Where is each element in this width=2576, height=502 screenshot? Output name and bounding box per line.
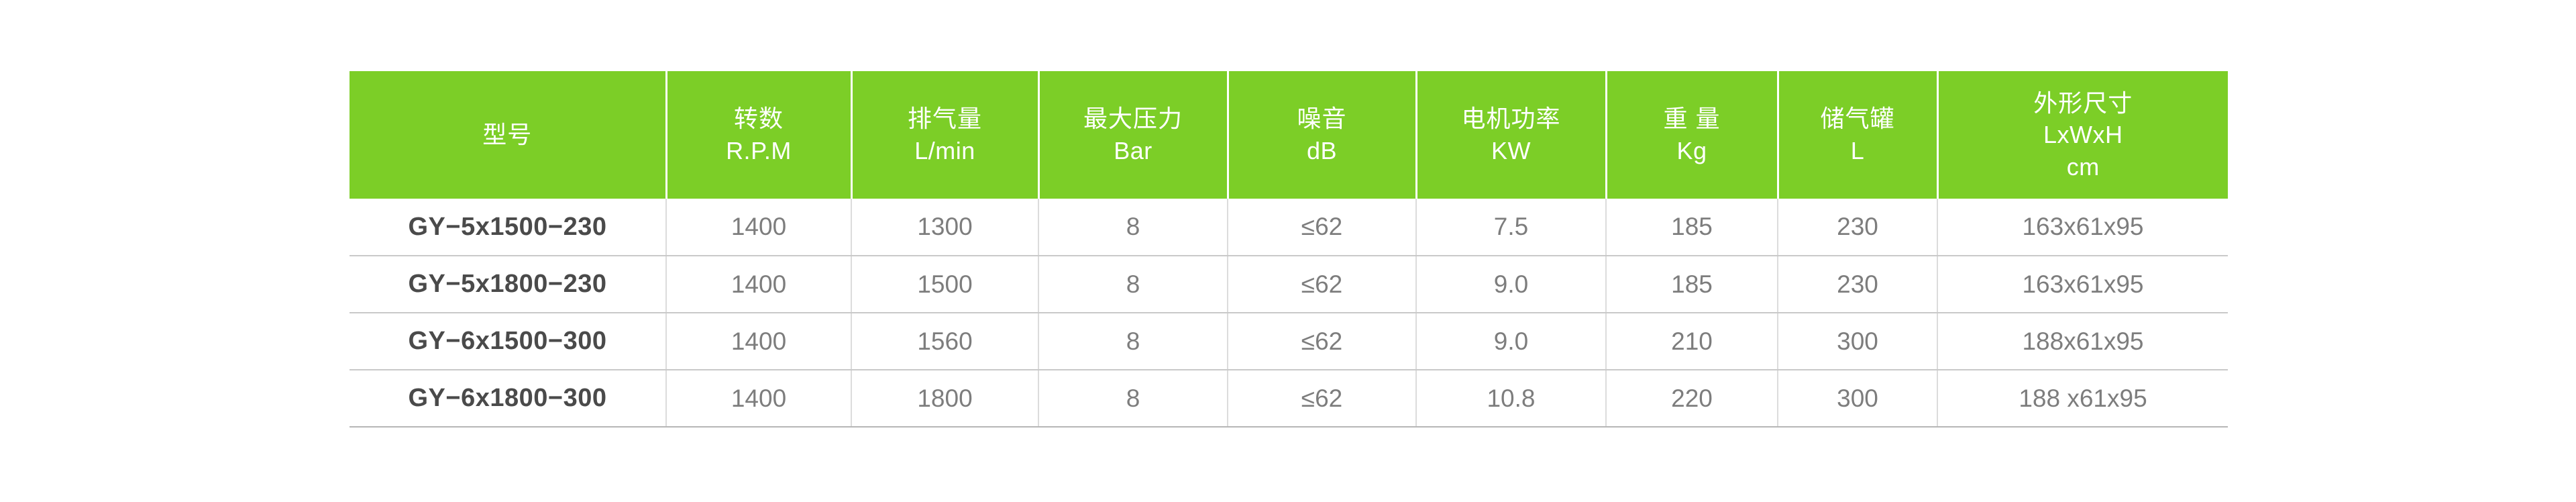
column-header-tank-unit: L bbox=[1783, 135, 1933, 167]
cell-weight: 220 bbox=[1606, 370, 1778, 427]
cell-motor-power: 9.0 bbox=[1416, 256, 1606, 313]
cell-noise: ≤62 bbox=[1228, 199, 1416, 256]
column-header-dimensions: 外形尺寸 LxWxH cm bbox=[1937, 71, 2228, 199]
page-root: 型号 转数 R.P.M 排气量 L/min 最大压力 Bar bbox=[0, 0, 2576, 502]
cell-weight: 210 bbox=[1606, 313, 1778, 370]
cell-tank: 300 bbox=[1778, 313, 1937, 370]
column-header-rpm: 转数 R.P.M bbox=[666, 71, 851, 199]
header-row: 型号 转数 R.P.M 排气量 L/min 最大压力 Bar bbox=[350, 71, 2228, 199]
cell-dimensions: 188x61x95 bbox=[1937, 313, 2228, 370]
cell-max-pressure: 8 bbox=[1038, 313, 1228, 370]
column-header-max-pressure: 最大压力 Bar bbox=[1038, 71, 1228, 199]
cell-model: GY−5x1800−230 bbox=[350, 256, 666, 313]
cell-dimensions: 163x61x95 bbox=[1937, 199, 2228, 256]
cell-motor-power: 7.5 bbox=[1416, 199, 1606, 256]
column-header-tank-title: 储气罐 bbox=[1783, 103, 1933, 135]
column-header-tank: 储气罐 L bbox=[1778, 71, 1937, 199]
cell-model: GY−6x1800−300 bbox=[350, 370, 666, 427]
column-header-noise: 噪音 dB bbox=[1228, 71, 1416, 199]
cell-displacement: 1500 bbox=[851, 256, 1038, 313]
table-row: GY−6x1500−300 1400 1560 8 ≤62 9.0 210 30… bbox=[350, 313, 2228, 370]
column-header-weight-title: 重 量 bbox=[1611, 103, 1773, 135]
cell-max-pressure: 8 bbox=[1038, 370, 1228, 427]
column-header-displacement-title: 排气量 bbox=[857, 103, 1034, 135]
cell-tank: 230 bbox=[1778, 256, 1937, 313]
column-header-rpm-title: 转数 bbox=[672, 103, 847, 135]
column-header-displacement: 排气量 L/min bbox=[851, 71, 1038, 199]
cell-rpm: 1400 bbox=[666, 256, 851, 313]
column-header-max-pressure-unit: Bar bbox=[1044, 135, 1223, 167]
cell-weight: 185 bbox=[1606, 199, 1778, 256]
column-header-model-title: 型号 bbox=[354, 119, 661, 151]
column-header-max-pressure-title: 最大压力 bbox=[1044, 103, 1223, 135]
cell-tank: 230 bbox=[1778, 199, 1937, 256]
cell-displacement: 1800 bbox=[851, 370, 1038, 427]
cell-noise: ≤62 bbox=[1228, 370, 1416, 427]
column-header-weight-unit: Kg bbox=[1611, 135, 1773, 167]
cell-motor-power: 9.0 bbox=[1416, 313, 1606, 370]
table-row: GY−5x1800−230 1400 1500 8 ≤62 9.0 185 23… bbox=[350, 256, 2228, 313]
column-header-displacement-unit: L/min bbox=[857, 135, 1034, 167]
specification-table: 型号 转数 R.P.M 排气量 L/min 最大压力 Bar bbox=[350, 71, 2228, 428]
cell-weight: 185 bbox=[1606, 256, 1778, 313]
cell-rpm: 1400 bbox=[666, 199, 851, 256]
cell-noise: ≤62 bbox=[1228, 256, 1416, 313]
cell-displacement: 1560 bbox=[851, 313, 1038, 370]
cell-motor-power: 10.8 bbox=[1416, 370, 1606, 427]
column-header-motor-power-title: 电机功率 bbox=[1421, 103, 1601, 135]
cell-noise: ≤62 bbox=[1228, 313, 1416, 370]
cell-model: GY−6x1500−300 bbox=[350, 313, 666, 370]
column-header-model: 型号 bbox=[350, 71, 666, 199]
cell-displacement: 1300 bbox=[851, 199, 1038, 256]
column-header-motor-power: 电机功率 KW bbox=[1416, 71, 1606, 199]
table-row: GY−6x1800−300 1400 1800 8 ≤62 10.8 220 3… bbox=[350, 370, 2228, 427]
column-header-rpm-unit: R.P.M bbox=[672, 135, 847, 167]
cell-max-pressure: 8 bbox=[1038, 199, 1228, 256]
cell-tank: 300 bbox=[1778, 370, 1937, 427]
cell-max-pressure: 8 bbox=[1038, 256, 1228, 313]
column-header-motor-power-unit: KW bbox=[1421, 135, 1601, 167]
cell-dimensions: 163x61x95 bbox=[1937, 256, 2228, 313]
column-header-noise-unit: dB bbox=[1233, 135, 1411, 167]
table-row: GY−5x1500−230 1400 1300 8 ≤62 7.5 185 23… bbox=[350, 199, 2228, 256]
table-header: 型号 转数 R.P.M 排气量 L/min 最大压力 Bar bbox=[350, 71, 2228, 199]
cell-rpm: 1400 bbox=[666, 313, 851, 370]
column-header-noise-title: 噪音 bbox=[1233, 103, 1411, 135]
spec-table-container: 型号 转数 R.P.M 排气量 L/min 最大压力 Bar bbox=[350, 71, 2228, 428]
column-header-weight: 重 量 Kg bbox=[1606, 71, 1778, 199]
cell-dimensions: 188 x61x95 bbox=[1937, 370, 2228, 427]
table-body: GY−5x1500−230 1400 1300 8 ≤62 7.5 185 23… bbox=[350, 199, 2228, 427]
cell-model: GY−5x1500−230 bbox=[350, 199, 666, 256]
column-header-dimensions-unit: LxWxH cm bbox=[1943, 119, 2224, 183]
column-header-dimensions-title: 外形尺寸 bbox=[1943, 87, 2224, 119]
cell-rpm: 1400 bbox=[666, 370, 851, 427]
